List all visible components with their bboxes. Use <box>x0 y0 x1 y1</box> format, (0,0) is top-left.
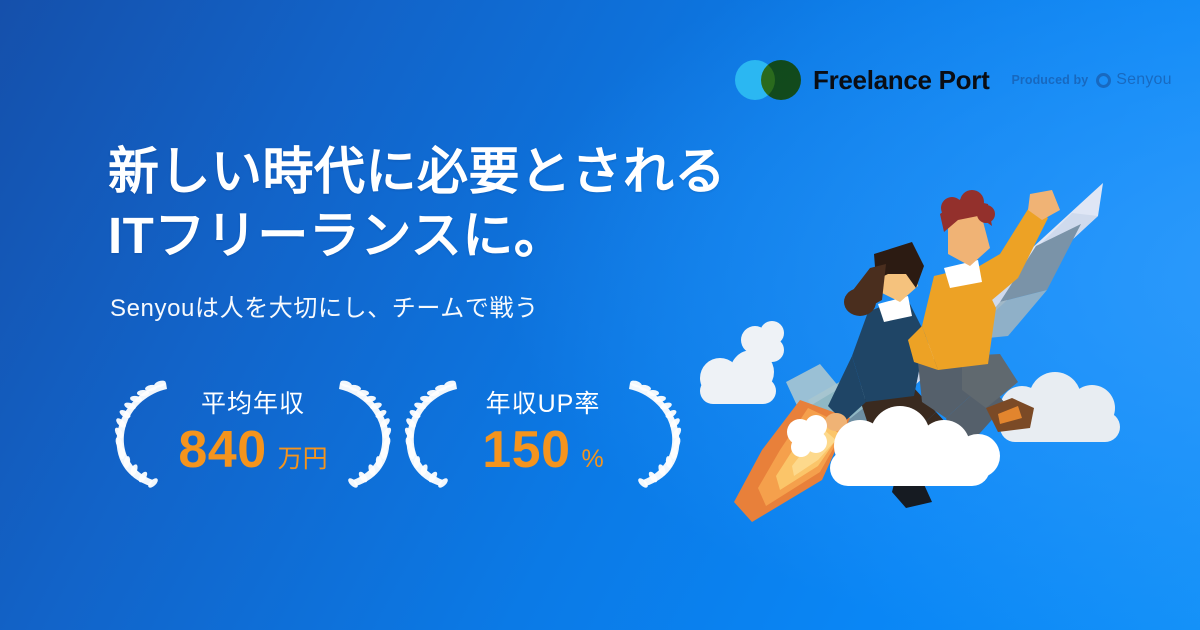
stat-badge: 年収UP率 150 % <box>398 378 688 490</box>
laurel-wreath-icon <box>110 378 172 490</box>
cloud-icon <box>700 350 776 404</box>
produced-by-credit: Produced by Senyou <box>1011 71 1171 89</box>
brand-logo-bar[interactable]: Freelance Port Produced by Senyou <box>735 60 1172 100</box>
stat-value: 840 万円 <box>178 424 327 476</box>
two-overlapping-circles-logo-icon <box>735 60 801 100</box>
hero-subheadline: Senyouは人を大切にし、チームで戦う <box>110 288 539 323</box>
stat-number: 840 <box>178 424 266 476</box>
produced-by-name: Senyou <box>1116 71 1171 89</box>
rocket-illustration-svg <box>700 150 1130 520</box>
stat-value: 150 % <box>482 424 604 476</box>
laurel-wreath-icon <box>624 378 686 490</box>
stat-badge: 平均年収 840 万円 <box>108 378 398 490</box>
cloud-icon <box>787 415 827 457</box>
stat-unit: % <box>582 447 604 472</box>
stat-badge-group: 平均年収 840 万円 <box>108 378 688 490</box>
hero-headline: 新しい時代に必要とされる ITフリーランスに。 <box>108 140 726 269</box>
stat-unit: 万円 <box>278 447 328 472</box>
hero-banner: Freelance Port Produced by Senyou 新しい時代に… <box>0 0 1200 630</box>
laurel-wreath-icon <box>334 378 396 490</box>
stat-label: 平均年収 <box>201 392 305 417</box>
brand-name: Freelance Port <box>813 67 989 93</box>
stat-label: 年収UP率 <box>486 392 601 417</box>
stat-number: 150 <box>482 424 570 476</box>
produced-by-label: Produced by <box>1011 73 1088 87</box>
laurel-wreath-icon <box>400 378 462 490</box>
rocket-illustration <box>700 150 1130 520</box>
headline-line-1: 新しい時代に必要とされる <box>108 140 726 204</box>
headline-line-2: ITフリーランスに。 <box>108 204 726 268</box>
senyou-ring-icon <box>1096 73 1111 88</box>
